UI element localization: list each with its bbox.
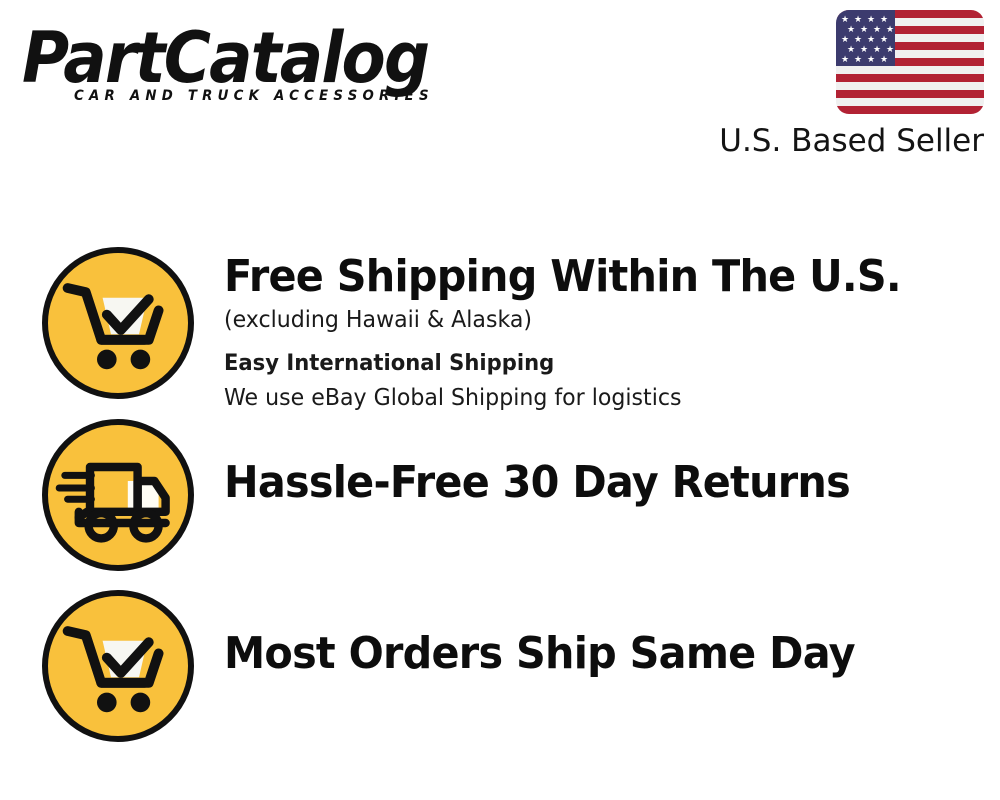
delivery-truck-icon (42, 419, 194, 571)
feature-title: Free Shipping Within The U.S. (224, 251, 920, 303)
feature-list: Free Shipping Within The U.S. (excluding… (0, 0, 1000, 800)
shopping-cart-check-icon (42, 590, 194, 742)
feature-text: Most Orders Ship Same Day (224, 628, 964, 680)
feature-row: Hassle-Free 30 Day Returns (0, 415, 1000, 580)
feature-title: Most Orders Ship Same Day (224, 628, 920, 680)
feature-text: Hassle-Free 30 Day Returns (224, 457, 964, 509)
shopping-cart-check-icon (42, 247, 194, 399)
feature-subtitle-detail: We use eBay Global Shipping for logistic… (224, 381, 934, 415)
feature-row: Most Orders Ship Same Day (0, 586, 1000, 751)
promo-banner: PartCatalog CAR AND TRUCK ACCESSORIES ★ (0, 0, 1000, 800)
feature-subtitle: (excluding Hawaii & Alaska) (224, 303, 934, 337)
feature-subtitle-bold: Easy International Shipping (224, 347, 934, 381)
feature-title: Hassle-Free 30 Day Returns (224, 457, 920, 509)
feature-text: Free Shipping Within The U.S. (excluding… (224, 251, 964, 415)
feature-row: Free Shipping Within The U.S. (excluding… (0, 243, 1000, 408)
